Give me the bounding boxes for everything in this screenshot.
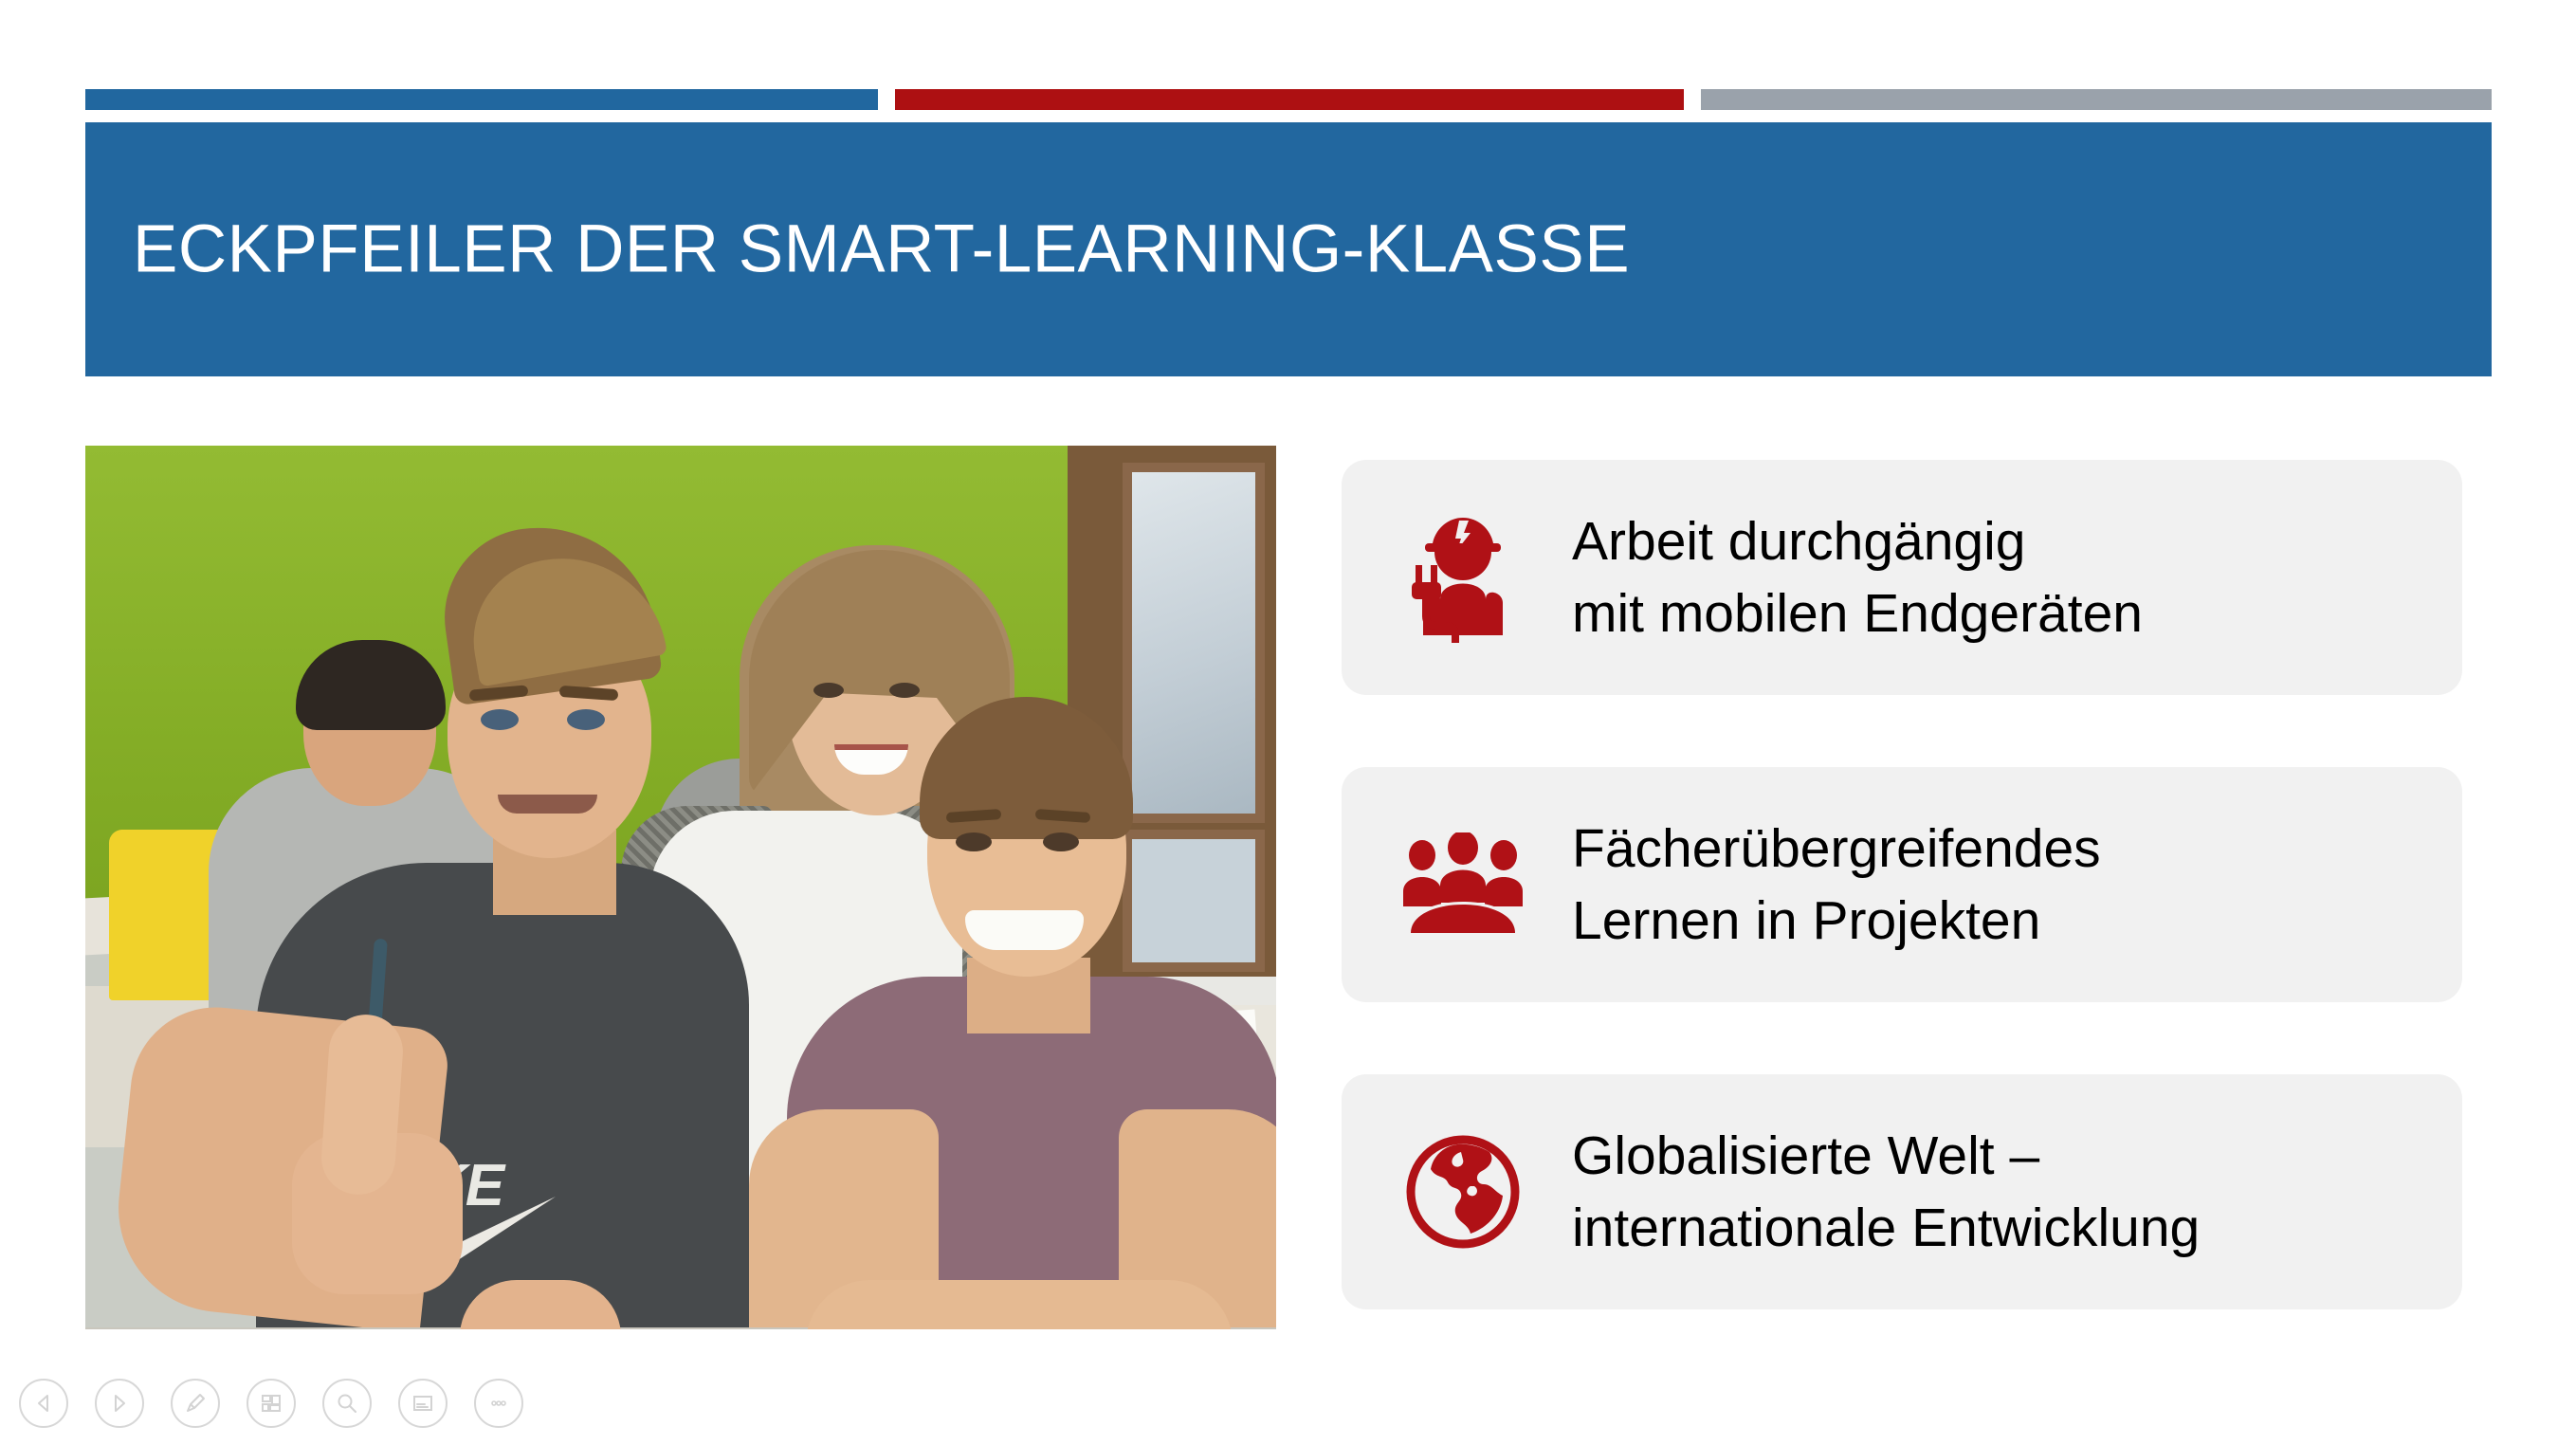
zoom-button[interactable] <box>322 1379 372 1428</box>
electrician-icon <box>1379 512 1545 643</box>
caption-icon <box>411 1392 434 1415</box>
feature-card-text: Fächerübergreifendes Lernen in Projekten <box>1545 813 2424 958</box>
boy-left-eye-right <box>567 709 605 730</box>
feature-card-globalization[interactable]: Globalisierte Welt – internationale Entw… <box>1342 1074 2462 1309</box>
feature-card-line-2: Lernen in Projekten <box>1572 885 2424 957</box>
feature-card-text: Globalisierte Welt – internationale Entw… <box>1545 1120 2424 1265</box>
page-title: ECKPFEILER DER SMART-LEARNING-KLASSE <box>133 216 1630 284</box>
thumbs-up-icon <box>319 1013 405 1198</box>
subtitles-button[interactable] <box>398 1379 448 1428</box>
ellipsis-icon <box>487 1392 510 1415</box>
window-pane-upper <box>1123 463 1265 823</box>
feature-card-line-1: Fächerübergreifendes <box>1572 818 2101 879</box>
feature-card-list: Arbeit durchgängig mit mobilen Endgeräte… <box>1342 460 2462 1309</box>
all-slides-button[interactable] <box>247 1379 296 1428</box>
feature-card-line-1: Globalisierte Welt – <box>1572 1125 2039 1186</box>
slides-grid-icon <box>260 1392 283 1415</box>
pen-icon <box>184 1392 207 1415</box>
boy-right-forearm <box>806 1280 1233 1329</box>
feature-card-line-2: internationale Entwicklung <box>1572 1192 2424 1264</box>
boy-left-mouth <box>498 795 597 814</box>
feature-card-text: Arbeit durchgängig mit mobilen Endgeräte… <box>1545 505 2424 650</box>
feature-card-line-2: mit mobilen Endgeräten <box>1572 577 2424 649</box>
globe-icon <box>1379 1133 1545 1251</box>
photo-scene: NIKE <box>85 446 1276 1329</box>
triangle-right-icon <box>109 1393 130 1414</box>
pen-annotation-button[interactable] <box>171 1379 220 1428</box>
classroom-photo: NIKE <box>85 446 1276 1329</box>
feature-card-mobile-devices[interactable]: Arbeit durchgängig mit mobilen Endgeräte… <box>1342 460 2462 695</box>
previous-slide-button[interactable] <box>19 1379 68 1428</box>
accent-bar-red <box>895 89 1684 110</box>
title-banner: ECKPFEILER DER SMART-LEARNING-KLASSE <box>85 122 2492 376</box>
next-slide-button[interactable] <box>95 1379 144 1428</box>
girl-eye-left <box>813 683 844 698</box>
feature-card-interdisciplinary[interactable]: Fächerübergreifendes Lernen in Projekten <box>1342 767 2462 1002</box>
magnifier-icon <box>336 1392 358 1415</box>
triangle-left-icon <box>33 1393 54 1414</box>
boy-right-eye-right <box>1043 832 1079 851</box>
more-options-button[interactable] <box>474 1379 523 1428</box>
presentation-slide: ECKPFEILER DER SMART-LEARNING-KLASSE <box>0 0 2576 1445</box>
girl-eye-right <box>889 683 920 698</box>
accent-bar-gray <box>1701 89 2492 110</box>
slideshow-toolbar <box>19 1379 523 1428</box>
boy-right-eye-left <box>956 832 992 851</box>
window-pane-lower <box>1123 830 1265 972</box>
boy-right-smile <box>965 910 1084 950</box>
feature-card-line-1: Arbeit durchgängig <box>1572 511 2026 572</box>
people-group-icon <box>1379 832 1545 937</box>
accent-bar-blue <box>85 89 878 110</box>
boy-left-eye-left <box>481 709 519 730</box>
